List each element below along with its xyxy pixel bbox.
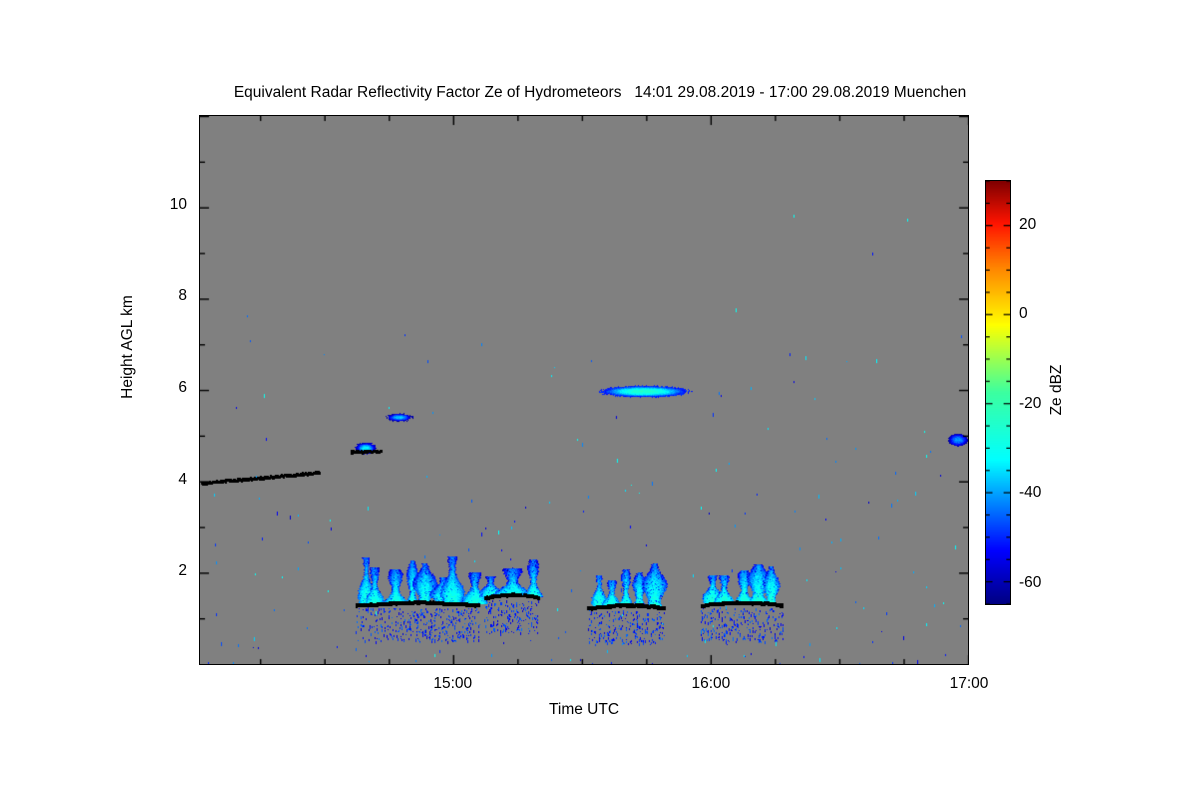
radar-timeheight-figure: Equivalent Radar Reflectivity Factor Ze … bbox=[0, 0, 1200, 800]
y-axis-label: Height AGL km bbox=[119, 267, 137, 507]
colorbar-tick-label-neg60: -60 bbox=[1019, 574, 1041, 592]
figure-title: Equivalent Radar Reflectivity Factor Ze … bbox=[0, 84, 1200, 102]
y-tick-label-2: 2 bbox=[0, 562, 187, 580]
x-tick-label-17-00: 17:00 bbox=[924, 675, 1014, 693]
x-tick-label-16-00: 16:00 bbox=[666, 675, 756, 693]
colorbar[interactable] bbox=[985, 180, 1011, 605]
y-tick-label-8: 8 bbox=[0, 287, 187, 305]
x-axis-label: Time UTC bbox=[199, 701, 969, 719]
colorbar-tick-label-20: 20 bbox=[1019, 216, 1036, 234]
colorbar-tick-label-neg40: -40 bbox=[1019, 484, 1041, 502]
colorbar-tick-label-0: 0 bbox=[1019, 305, 1028, 323]
colorbar-gradient bbox=[986, 181, 1010, 604]
colorbar-tick-label-neg20: -20 bbox=[1019, 395, 1041, 413]
colorbar-label: Ze dBZ bbox=[1048, 330, 1066, 450]
y-tick-label-4: 4 bbox=[0, 471, 187, 489]
y-tick-label-6: 6 bbox=[0, 379, 187, 397]
reflectivity-field-canvas[interactable] bbox=[200, 116, 968, 664]
plot-area[interactable] bbox=[199, 115, 969, 665]
y-tick-label-10: 10 bbox=[0, 196, 187, 214]
x-tick-label-15-00: 15:00 bbox=[408, 675, 498, 693]
